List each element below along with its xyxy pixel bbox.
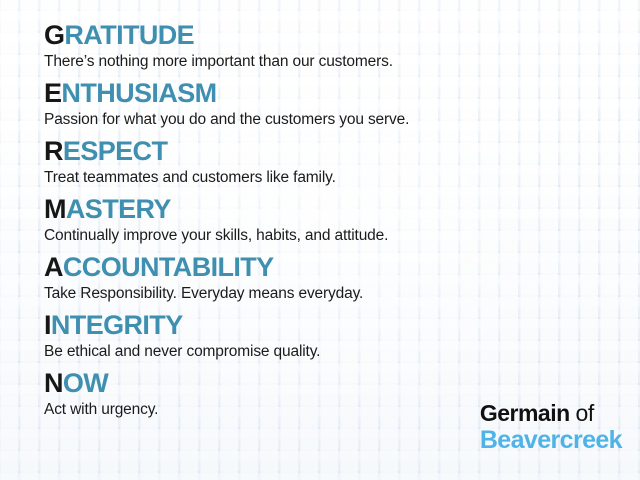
value-heading-lead-letter: N: [44, 368, 63, 398]
value-heading-remainder: NTHUSIASM: [61, 78, 216, 108]
value-block-enthusiasm: ENTHUSIASM Passion for what you do and t…: [44, 78, 640, 130]
value-description-gratitude: There’s nothing more important than our …: [44, 51, 640, 72]
value-block-respect: RESPECT Treat teammates and customers li…: [44, 136, 640, 188]
value-heading-remainder: OW: [63, 368, 108, 398]
value-heading-lead-letter: G: [44, 20, 64, 50]
value-block-accountability: ACCOUNTABILITY Take Responsibility. Ever…: [44, 252, 640, 304]
value-description-enthusiasm: Passion for what you do and the customer…: [44, 109, 640, 130]
value-heading-lead-letter: M: [44, 194, 66, 224]
value-description-respect: Treat teammates and customers like famil…: [44, 167, 640, 188]
value-block-gratitude: GRATITUDE There’s nothing more important…: [44, 20, 640, 72]
value-description-mastery: Continually improve your skills, habits,…: [44, 225, 640, 246]
logo-location-name: Beavercreek: [480, 427, 622, 454]
value-heading-lead-letter: A: [44, 252, 63, 282]
value-heading-mastery: MASTERY: [44, 194, 640, 224]
dealership-logo: Germain of Beavercreek: [480, 401, 622, 454]
value-description-accountability: Take Responsibility. Everyday means ever…: [44, 283, 640, 304]
value-heading-remainder: NTEGRITY: [51, 310, 183, 340]
value-heading-remainder: CCOUNTABILITY: [63, 252, 274, 282]
logo-primary-line: Germain of: [480, 401, 622, 426]
value-heading-gratitude: GRATITUDE: [44, 20, 640, 50]
value-heading-integrity: INTEGRITY: [44, 310, 640, 340]
value-description-integrity: Be ethical and never compromise quality.: [44, 341, 640, 362]
value-heading-lead-letter: I: [44, 310, 51, 340]
value-block-mastery: MASTERY Continually improve your skills,…: [44, 194, 640, 246]
value-heading-accountability: ACCOUNTABILITY: [44, 252, 640, 282]
value-heading-enthusiasm: ENTHUSIASM: [44, 78, 640, 108]
value-heading-remainder: ESPECT: [63, 136, 167, 166]
value-heading-lead-letter: R: [44, 136, 63, 166]
value-block-integrity: INTEGRITY Be ethical and never compromis…: [44, 310, 640, 362]
value-heading-now: NOW: [44, 368, 640, 398]
values-poster: GRATITUDE There’s nothing more important…: [0, 0, 640, 480]
logo-connector-word: of: [570, 400, 594, 426]
value-heading-remainder: RATITUDE: [64, 20, 194, 50]
logo-brand-name: Germain: [480, 400, 570, 426]
value-heading-respect: RESPECT: [44, 136, 640, 166]
value-heading-lead-letter: E: [44, 78, 61, 108]
values-list: GRATITUDE There’s nothing more important…: [0, 0, 640, 420]
value-heading-remainder: ASTERY: [66, 194, 171, 224]
